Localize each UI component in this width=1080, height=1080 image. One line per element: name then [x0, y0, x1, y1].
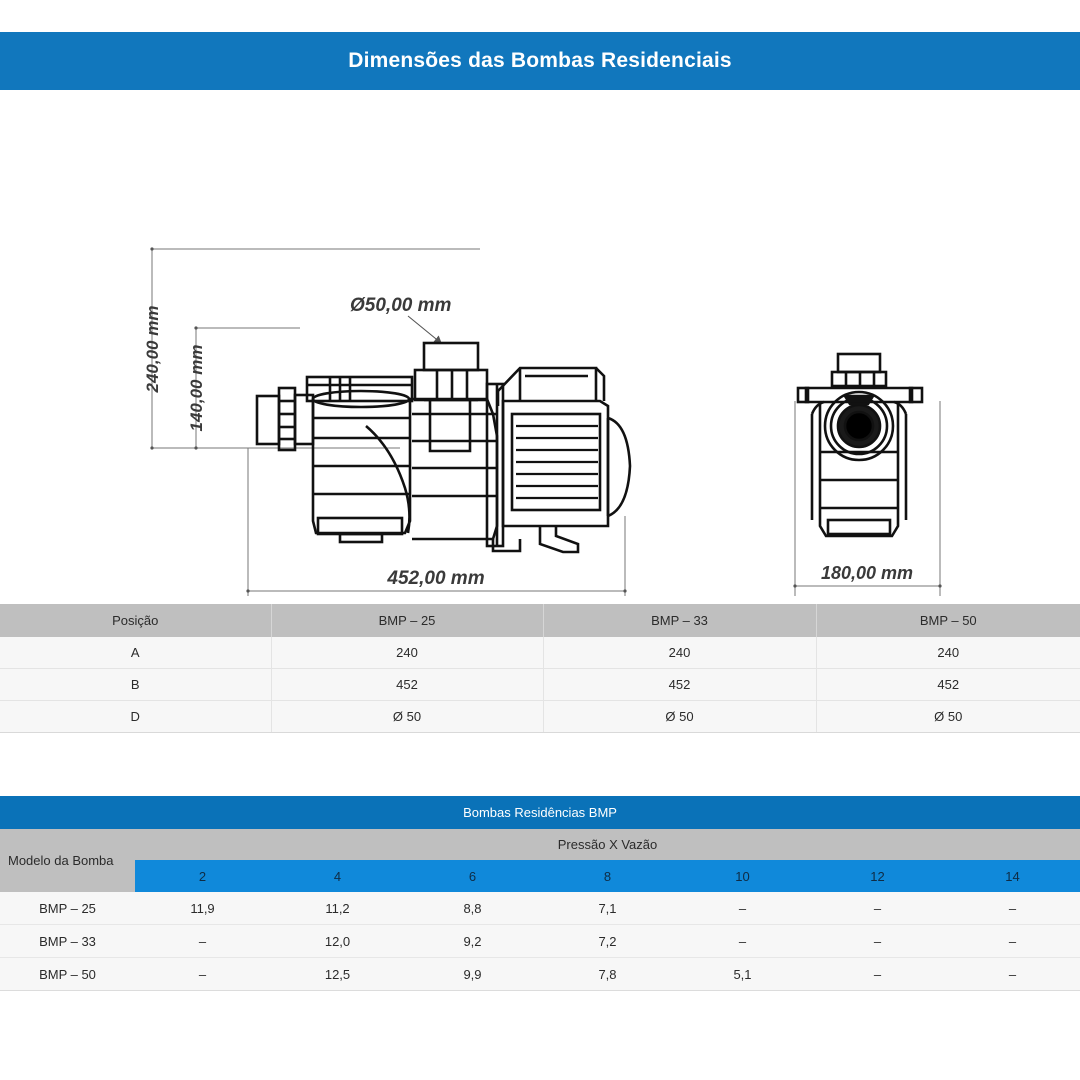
table-row: A 240 240 240	[0, 637, 1080, 669]
flow-cell: 11,9	[135, 892, 270, 925]
flow-cell: –	[810, 892, 945, 925]
flow-cell: 11,2	[270, 892, 405, 925]
dimensions-cell: 240	[543, 637, 816, 669]
dimensions-col-bmp33: BMP – 33	[543, 604, 816, 637]
dimensions-cell: 452	[816, 669, 1080, 701]
dimensions-cell: 240	[271, 637, 543, 669]
pump-front-view: 180,00 mm	[795, 354, 940, 596]
pump-dimension-drawing: 240,00 mm 140,00 mm 452,00 mm Ø50,00 mm	[0, 96, 1080, 596]
flow-table-pressure-row: 2 4 6 8 10 12 14	[0, 860, 1080, 892]
flow-col-pressure-10: 10	[675, 860, 810, 892]
flow-cell: 5,1	[675, 958, 810, 991]
table-row: D Ø 50 Ø 50 Ø 50	[0, 701, 1080, 733]
flow-group-label: Pressão X Vazão	[135, 829, 1080, 860]
page-header-bar: Dimensões das Bombas Residenciais	[0, 32, 1080, 90]
flow-col-pressure-4: 4	[270, 860, 405, 892]
table-row: BMP – 25 11,9 11,2 8,8 7,1 – – –	[0, 892, 1080, 925]
flow-cell: –	[675, 925, 810, 958]
dimensions-cell: 452	[543, 669, 816, 701]
flow-col-pressure-6: 6	[405, 860, 540, 892]
dimension-port-diameter	[408, 316, 441, 343]
technical-drawing-area: 240,00 mm 140,00 mm 452,00 mm Ø50,00 mm	[0, 96, 1080, 596]
dimensions-cell: Ø 50	[543, 701, 816, 733]
pump-side-geometry	[257, 343, 630, 552]
flow-cell-model: BMP – 25	[0, 892, 135, 925]
flow-table: Bombas Residências BMP Modelo da Bomba P…	[0, 796, 1080, 991]
table-row: BMP – 33 – 12,0 9,2 7,2 – – –	[0, 925, 1080, 958]
label-width-180: 180,00 mm	[821, 563, 913, 583]
dimensions-table: Posição BMP – 25 BMP – 33 BMP – 50 A 240…	[0, 604, 1080, 733]
flow-col-pressure-12: 12	[810, 860, 945, 892]
dimensions-col-bmp50: BMP – 50	[816, 604, 1080, 637]
table-row: BMP – 50 – 12,5 9,9 7,8 5,1 – –	[0, 958, 1080, 991]
label-length-452: 452,00 mm	[386, 568, 484, 589]
page-title: Dimensões das Bombas Residenciais	[348, 49, 732, 73]
flow-cell: 12,5	[270, 958, 405, 991]
flow-cell: –	[675, 892, 810, 925]
dimensions-cell: A	[0, 637, 271, 669]
flow-cell: –	[945, 925, 1080, 958]
flow-col-pressure-14: 14	[945, 860, 1080, 892]
flow-table-title-row: Bombas Residências BMP	[0, 796, 1080, 829]
dimensions-cell: Ø 50	[816, 701, 1080, 733]
dimensions-col-bmp25: BMP – 25	[271, 604, 543, 637]
pump-front-geometry	[798, 354, 922, 536]
dimensions-cell: Ø 50	[271, 701, 543, 733]
flow-cell-model: BMP – 33	[0, 925, 135, 958]
flow-cell: 8,8	[405, 892, 540, 925]
flow-table-title: Bombas Residências BMP	[0, 796, 1080, 829]
dimensions-cell: 240	[816, 637, 1080, 669]
label-height-240: 240,00 mm	[143, 306, 162, 394]
label-height-140: 140,00 mm	[187, 345, 206, 432]
dimensions-col-posicao: Posição	[0, 604, 271, 637]
flow-col-pressure-2: 2	[135, 860, 270, 892]
flow-cell: 9,9	[405, 958, 540, 991]
flow-cell-model: BMP – 50	[0, 958, 135, 991]
flow-cell: 7,8	[540, 958, 675, 991]
dimensions-cell: 452	[271, 669, 543, 701]
flow-col-pressure-8: 8	[540, 860, 675, 892]
flow-cell: 7,1	[540, 892, 675, 925]
flow-cell: –	[810, 958, 945, 991]
flow-cell: 12,0	[270, 925, 405, 958]
flow-cell: –	[945, 958, 1080, 991]
flow-cell: 7,2	[540, 925, 675, 958]
dimensions-cell: D	[0, 701, 271, 733]
flow-cell: –	[945, 892, 1080, 925]
flow-cell: 9,2	[405, 925, 540, 958]
pump-side-view: 240,00 mm 140,00 mm 452,00 mm Ø50,00 mm	[143, 249, 630, 596]
dimensions-table-header-row: Posição BMP – 25 BMP – 33 BMP – 50	[0, 604, 1080, 637]
dimensions-cell: B	[0, 669, 271, 701]
flow-cell: –	[810, 925, 945, 958]
flow-cell: –	[135, 925, 270, 958]
flow-table-group-row: Modelo da Bomba Pressão X Vazão	[0, 829, 1080, 860]
table-row: B 452 452 452	[0, 669, 1080, 701]
flow-cell: –	[135, 958, 270, 991]
label-port-diameter: Ø50,00 mm	[350, 295, 451, 316]
flow-col-modelo: Modelo da Bomba	[0, 829, 135, 892]
